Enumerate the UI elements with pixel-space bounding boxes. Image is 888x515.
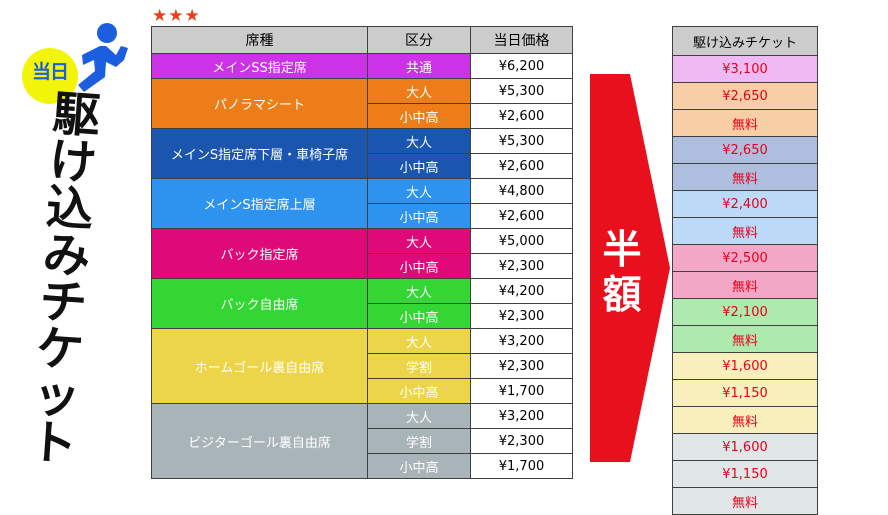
header-seat-type: 席種	[152, 27, 368, 54]
discount-row: 無料	[673, 164, 818, 191]
header-last-minute-ticket: 駆け込みチケット	[673, 27, 818, 56]
cell-day-price: ¥5,300	[471, 79, 573, 104]
cell-discount-price: ¥2,500	[673, 245, 818, 272]
discount-row: ¥3,100	[673, 56, 818, 83]
discount-row: ¥2,650	[673, 137, 818, 164]
discount-row: 無料	[673, 326, 818, 353]
discount-row: 無料	[673, 218, 818, 245]
badge-group: 当日	[18, 22, 130, 94]
cell-seat-type: メインSS指定席	[152, 54, 368, 79]
cell-discount-price: 無料	[673, 164, 818, 191]
cell-day-price: ¥3,200	[471, 404, 573, 429]
cell-category: 小中高	[368, 379, 471, 404]
discount-row: ¥2,650	[673, 83, 818, 110]
cell-discount-price: ¥2,400	[673, 191, 818, 218]
table-row: バック自由席大人¥4,200	[152, 279, 573, 304]
cell-category: 大人	[368, 129, 471, 154]
cell-discount-price: 無料	[673, 218, 818, 245]
cell-day-price: ¥2,300	[471, 304, 573, 329]
table-row: ビジターゴール裏自由席大人¥3,200	[152, 404, 573, 429]
discount-row: ¥2,500	[673, 245, 818, 272]
cell-day-price: ¥2,300	[471, 429, 573, 454]
cell-discount-price: ¥1,600	[673, 353, 818, 380]
cell-category: 小中高	[368, 154, 471, 179]
cell-seat-type: バック自由席	[152, 279, 368, 329]
header-category: 区分	[368, 27, 471, 54]
cell-discount-price: 無料	[673, 407, 818, 434]
discount-row: 無料	[673, 110, 818, 137]
cell-day-price: ¥5,300	[471, 129, 573, 154]
cell-day-price: ¥4,200	[471, 279, 573, 304]
cell-category: 大人	[368, 179, 471, 204]
cell-day-price: ¥1,700	[471, 454, 573, 479]
discount-row: ¥1,600	[673, 353, 818, 380]
table-row: パノラマシート大人¥5,300	[152, 79, 573, 104]
cell-day-price: ¥6,200	[471, 54, 573, 79]
cell-day-price: ¥2,600	[471, 104, 573, 129]
discount-row: ¥2,100	[673, 299, 818, 326]
arrow-label-char: 額	[592, 273, 652, 318]
cell-day-price: ¥3,200	[471, 329, 573, 354]
discount-row: 無料	[673, 272, 818, 299]
cell-category: 小中高	[368, 104, 471, 129]
left-banner: 当日 駆 け 込 み チ ケ ッ ト	[0, 0, 145, 500]
cell-day-price: ¥5,000	[471, 229, 573, 254]
discount-row: 無料	[673, 407, 818, 434]
cell-seat-type: メインS指定席上層	[152, 179, 368, 229]
cell-discount-price: ¥2,650	[673, 83, 818, 110]
table-row: ホームゴール裏自由席大人¥3,200	[152, 329, 573, 354]
cell-category: 学割	[368, 429, 471, 454]
cell-category: 大人	[368, 329, 471, 354]
arrow-label-char: 半	[592, 228, 652, 273]
discount-table: 駆け込みチケット ¥3,100¥2,650無料¥2,650無料¥2,400無料¥…	[672, 26, 818, 515]
cell-day-price: ¥2,300	[471, 254, 573, 279]
cell-discount-price: ¥1,150	[673, 380, 818, 407]
discount-row: ¥1,150	[673, 461, 818, 488]
price-table: 席種 区分 当日価格 メインSS指定席共通¥6,200パノラマシート大人¥5,3…	[151, 26, 573, 479]
cell-discount-price: ¥1,150	[673, 461, 818, 488]
cell-seat-type: ホームゴール裏自由席	[152, 329, 368, 404]
cell-discount-price: ¥2,650	[673, 137, 818, 164]
cell-day-price: ¥4,800	[471, 179, 573, 204]
running-person-icon	[62, 22, 132, 94]
cell-discount-price: ¥2,100	[673, 299, 818, 326]
cell-category: 大人	[368, 279, 471, 304]
cell-seat-type: バック指定席	[152, 229, 368, 279]
cell-category: 共通	[368, 54, 471, 79]
discount-row: ¥1,150	[673, 380, 818, 407]
table-row: バック指定席大人¥5,000	[152, 229, 573, 254]
table-row: メインS指定席下層・車椅子席大人¥5,300	[152, 129, 573, 154]
cell-category: 小中高	[368, 454, 471, 479]
cell-discount-price: ¥3,100	[673, 56, 818, 83]
cell-category: 小中高	[368, 304, 471, 329]
cell-category: 学割	[368, 354, 471, 379]
cell-discount-price: 無料	[673, 110, 818, 137]
table-header-row: 席種 区分 当日価格	[152, 27, 573, 54]
table-row: メインS指定席上層大人¥4,800	[152, 179, 573, 204]
title-char: ト	[4, 417, 103, 471]
cell-seat-type: メインS指定席下層・車椅子席	[152, 129, 368, 179]
table-row: メインSS指定席共通¥6,200	[152, 54, 573, 79]
cell-category: 大人	[368, 79, 471, 104]
cell-day-price: ¥2,600	[471, 154, 573, 179]
cell-category: 大人	[368, 229, 471, 254]
cell-day-price: ¥1,700	[471, 379, 573, 404]
cell-discount-price: 無料	[673, 272, 818, 299]
discount-row: ¥2,400	[673, 191, 818, 218]
cell-discount-price: 無料	[673, 326, 818, 353]
arrow-label: 半 額	[592, 228, 652, 318]
cell-category: 小中高	[368, 254, 471, 279]
cell-discount-price: 無料	[673, 488, 818, 515]
cell-day-price: ¥2,600	[471, 204, 573, 229]
cell-category: 小中高	[368, 204, 471, 229]
header-day-price: 当日価格	[471, 27, 573, 54]
cell-discount-price: ¥1,600	[673, 434, 818, 461]
discount-header-row: 駆け込みチケット	[673, 27, 818, 56]
discount-row: 無料	[673, 488, 818, 515]
star-rating-icon: ★★★	[152, 7, 201, 24]
vertical-title: 駆 け 込 み チ ケ ッ ト	[4, 89, 126, 471]
cell-day-price: ¥2,300	[471, 354, 573, 379]
cell-category: 大人	[368, 404, 471, 429]
discount-row: ¥1,600	[673, 434, 818, 461]
cell-seat-type: ビジターゴール裏自由席	[152, 404, 368, 479]
cell-seat-type: パノラマシート	[152, 79, 368, 129]
